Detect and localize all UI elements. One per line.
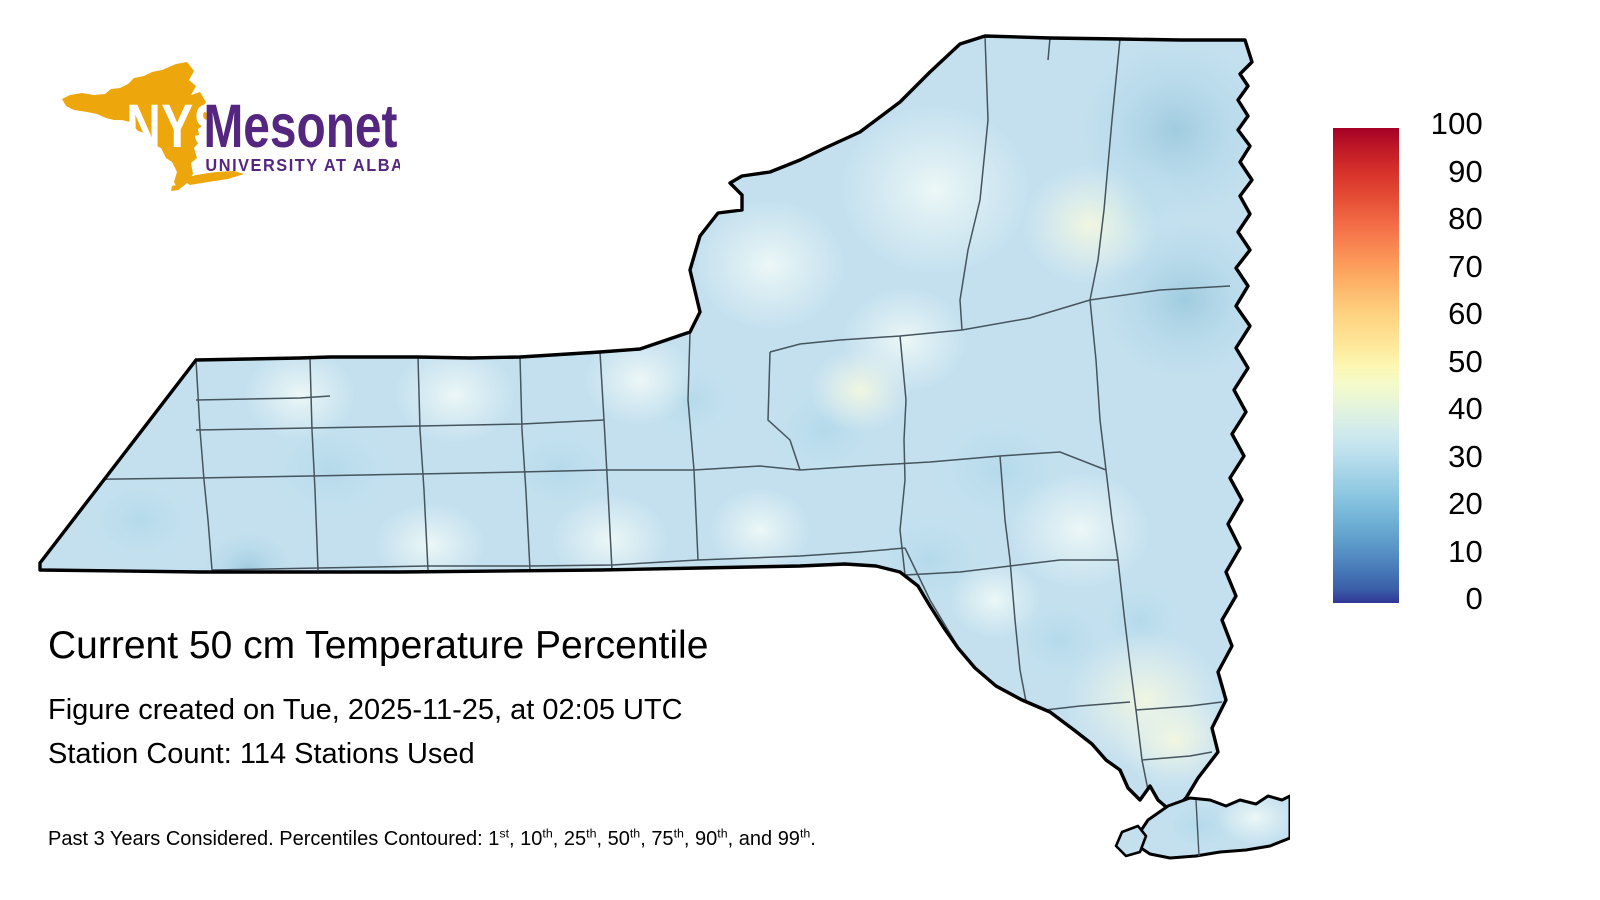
footnote-prefix: Past 3 Years Considered. Percentiles Con…: [48, 828, 488, 850]
contour-blob: [695, 200, 845, 330]
colorbar-tick-70: 70: [1403, 247, 1483, 287]
footnote-ordinal-suffix: th: [674, 826, 684, 840]
map-long-island-group: [1100, 780, 1290, 890]
figure-caption-block: Current 50 cm Temperature Percentile Fig…: [48, 620, 1048, 776]
footnote-percentile-90: 90th: [695, 828, 728, 850]
footnote-ordinal-suffix: th: [800, 826, 810, 840]
contour-blob: [840, 105, 1030, 275]
station-count-label: Station Count: 114 Stations Used: [48, 732, 1048, 776]
footnote-percentile-50: 50th: [608, 828, 641, 850]
contour-blob: [70, 465, 210, 575]
figure-title: Current 50 cm Temperature Percentile: [48, 620, 1048, 672]
footnote-ordinal-suffix: th: [586, 826, 596, 840]
colorbar-tick-10: 10: [1403, 532, 1483, 572]
percentile-colorbar: 100 90 80 70 60 50 40 30 20 10 0: [1333, 128, 1483, 606]
colorbar-tick-50: 50: [1403, 342, 1483, 382]
footnote-percentile-10: 10th: [520, 828, 553, 850]
contour-blob: [1022, 165, 1158, 285]
staten-island-outline: [1116, 826, 1146, 856]
colorbar-tick-labels: 100 90 80 70 60 50 40 30 20 10 0: [1403, 104, 1483, 626]
contour-blob: [810, 348, 910, 432]
contour-blob: [395, 347, 515, 443]
footnote-ordinal-suffix: th: [717, 826, 727, 840]
colorbar-tick-40: 40: [1403, 389, 1483, 429]
colorbar-tick-0: 0: [1403, 579, 1483, 619]
colorbar-tick-100: 100: [1403, 104, 1483, 144]
footnote-ordinal-suffix: st: [499, 826, 509, 840]
colorbar-tick-90: 90: [1403, 152, 1483, 192]
colorbar-tick-80: 80: [1403, 199, 1483, 239]
colorbar-gradient: [1333, 128, 1399, 603]
footnote-percentile-99: 99th: [778, 828, 811, 850]
contour-blob: [245, 350, 355, 440]
colorbar-tick-30: 30: [1403, 437, 1483, 477]
footnote-ordinal-suffix: th: [630, 826, 640, 840]
footnote-ordinal-suffix: th: [542, 826, 552, 840]
contour-blob: [1010, 472, 1150, 588]
contour-blob: [375, 503, 485, 587]
figure-created-timestamp: Figure created on Tue, 2025-11-25, at 02…: [48, 688, 1048, 732]
footnote-percentile-25: 25th: [564, 828, 597, 850]
colorbar-tick-20: 20: [1403, 484, 1483, 524]
footnote-percentile-1: 1st: [488, 828, 509, 850]
footnote-percentile-list: 1st, 10th, 25th, 50th, 75th, 90th, and 9…: [488, 828, 810, 850]
figure-footnote: Past 3 Years Considered. Percentiles Con…: [48, 826, 816, 852]
colorbar-tick-60: 60: [1403, 294, 1483, 334]
footnote-suffix: .: [810, 828, 816, 850]
footnote-percentile-75: 75th: [651, 828, 684, 850]
